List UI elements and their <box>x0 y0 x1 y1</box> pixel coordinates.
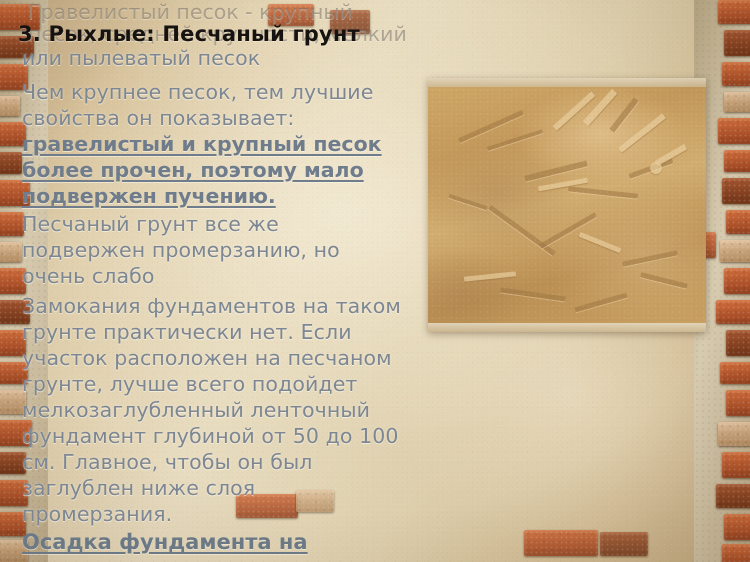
body-line-12: см. Главное, чтобы он был <box>22 452 312 473</box>
body-line-10: мелкозаглубленный ленточный <box>22 400 370 421</box>
body-line-6: Замокания фундаментов на таком <box>22 296 401 317</box>
slide-heading: 3. Рыхлые: Песчаный грунт <box>18 24 360 45</box>
body-line-5: очень слабо <box>22 266 155 287</box>
body-line-13: заглублен ниже слоя <box>22 478 255 499</box>
body-line-3: Песчаный грунт все же <box>22 214 279 235</box>
body-line-8: участок расположен на песчаном <box>22 348 392 369</box>
body-line-11: фундамент глубиной от 50 до 100 <box>22 426 399 447</box>
ghost-line-1: Гравелистый песок - крупный <box>28 2 353 23</box>
body-line-9: грунте, лучше всего подойдет <box>22 374 357 395</box>
presentation-slide: Гравелистый песок - крупный песок, средн… <box>0 0 750 562</box>
body-line-2: свойства он показывает: <box>22 108 294 129</box>
emphasis-line-0: гравелистый и крупный песок <box>22 134 382 155</box>
footer-emphasis-line: Осадка фундамента на <box>22 532 308 553</box>
body-line-1: Чем крупнее песок, тем лучшие <box>22 82 373 103</box>
slide-text-content: Гравелистый песок - крупный песок, средн… <box>0 0 750 562</box>
body-line-0: или пылеватый песок <box>22 48 260 69</box>
body-line-14: промерзания. <box>22 504 172 525</box>
emphasis-line-2: подвержен пучению. <box>22 186 276 207</box>
body-line-4: подвержен промерзанию, но <box>22 240 340 261</box>
body-line-7: грунте практически нет. Если <box>22 322 352 343</box>
emphasis-line-1: более прочен, поэтому мало <box>22 160 364 181</box>
